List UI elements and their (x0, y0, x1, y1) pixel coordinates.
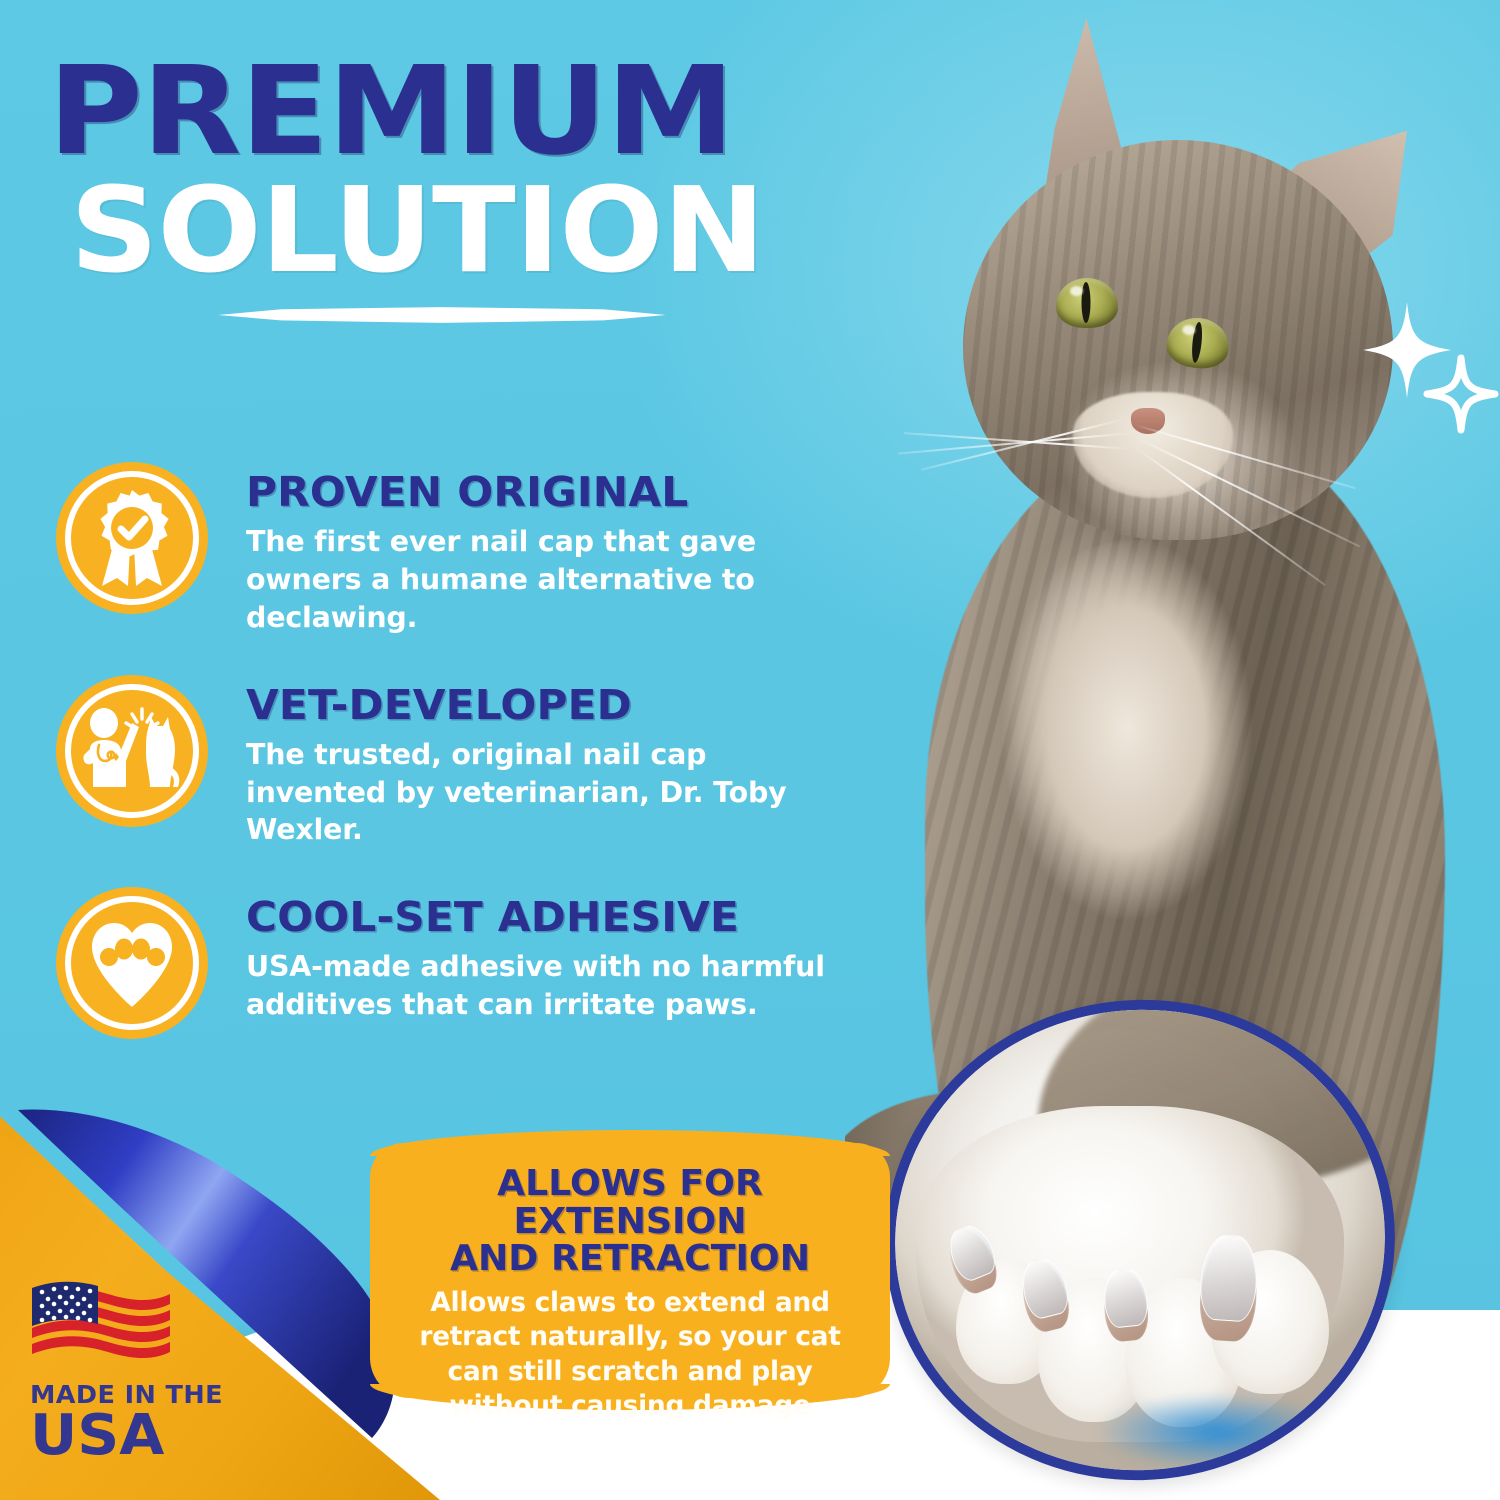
feature-list: PROVEN ORIGINAL The first ever nail cap … (56, 462, 846, 1077)
cat-pupil-left (1081, 282, 1090, 323)
product-infographic-poster: PREMIUM SOLUTION PROVEN ORIGINAL The fir (0, 0, 1500, 1500)
callout-title: ALLOWS FOR EXTENSION AND RETRACTION (391, 1165, 868, 1278)
feature-text-block: VET-DEVELOPED The trusted, original nail… (208, 675, 846, 850)
feature-text-block: PROVEN ORIGINAL The first ever nail cap … (208, 462, 846, 637)
feature-title: COOL-SET ADHESIVE (246, 893, 864, 941)
cat-eye-left (1056, 278, 1118, 328)
award-ribbon-checkmark-icon (56, 462, 208, 614)
feature-text-block: COOL-SET ADHESIVE USA-made adhesive with… (208, 887, 846, 1024)
heart-paw-print-icon (56, 887, 208, 1039)
feature-item-proven-original: PROVEN ORIGINAL The first ever nail cap … (56, 462, 846, 637)
callout-title-line2: AND RETRACTION (450, 1238, 810, 1279)
cat-eye-glint-left (1070, 286, 1083, 296)
made-in-usa-badge: MADE IN THE USA (30, 1278, 219, 1466)
callout-body: Allows claws to extend and retract natur… (396, 1286, 864, 1424)
cat-nose (1131, 408, 1165, 434)
feature-title: PROVEN ORIGINAL (246, 468, 864, 516)
feature-item-vet-developed: VET-DEVELOPED The trusted, original nail… (56, 675, 846, 850)
usa-flag-icon (30, 1278, 172, 1370)
feature-item-cool-set-adhesive: COOL-SET ADHESIVE USA-made adhesive with… (56, 887, 846, 1039)
cat-paw-with-nail-caps-closeup-photo (861, 975, 1418, 1500)
sparkle-star-outline-icon (1427, 358, 1495, 430)
feature-body: The first ever nail cap that gave owners… (246, 523, 846, 637)
headline-line-premium: PREMIUM (48, 54, 885, 170)
sparkle-star-filled-icon (1363, 302, 1451, 398)
feature-title: VET-DEVELOPED (246, 681, 864, 729)
extension-retraction-callout: ALLOWS FOR EXTENSION AND RETRACTION Allo… (370, 1143, 890, 1398)
made-in-usa-line2: USA (30, 1407, 227, 1466)
page-title: PREMIUM SOLUTION (48, 54, 838, 290)
feature-body: The trusted, original nail cap invented … (246, 736, 846, 850)
feature-body: USA-made adhesive with no harmful additi… (246, 948, 846, 1024)
vet-high-five-cat-icon (56, 675, 208, 827)
headline-line-solution: SOLUTION (70, 170, 869, 290)
callout-title-line1: ALLOWS FOR EXTENSION (497, 1163, 763, 1242)
sparkle-stars-decoration (1355, 298, 1500, 448)
paw-inset-image (885, 1000, 1395, 1480)
